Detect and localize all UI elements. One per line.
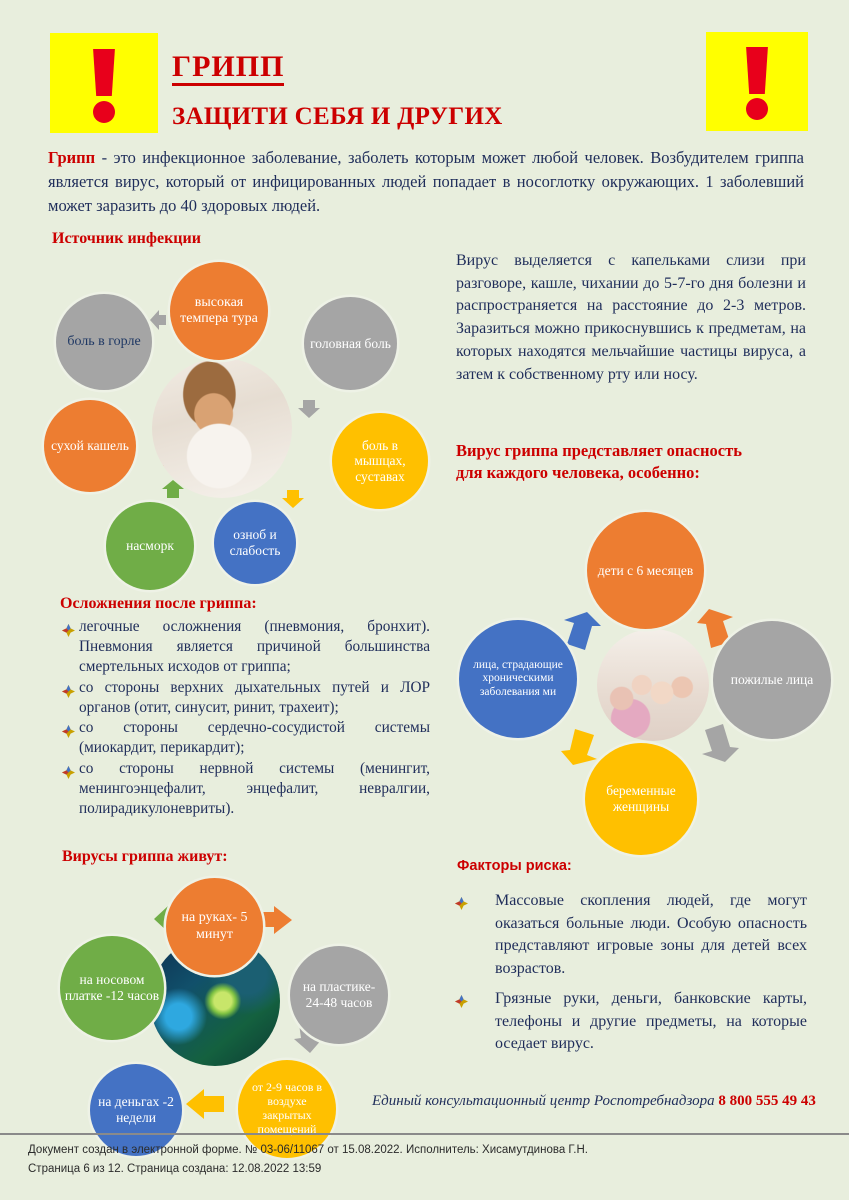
bullet-diamond-icon xyxy=(455,897,495,988)
arrow-icon-elderly-down xyxy=(695,720,741,764)
danger-heading: Вирус гриппа представляет опасность для … xyxy=(456,440,808,484)
header: ГРИПП ЗАЩИТИ СЕБЯ И ДРУГИХ xyxy=(0,0,849,150)
infographic-page: ГРИПП ЗАЩИТИ СЕБЯ И ДРУГИХ Грипп - это и… xyxy=(0,0,849,1200)
virus-bubble-hands: на руках- 5 минут xyxy=(166,878,263,975)
consultation-phone: 8 800 555 49 43 xyxy=(718,1093,816,1109)
list-item: Грязные руки, деньги, банковские карты, … xyxy=(455,988,807,1056)
symptom-label: головная боль xyxy=(306,336,395,352)
bullet-diamond-icon xyxy=(62,624,79,684)
exclamation-bar xyxy=(91,49,117,96)
warning-exclamation-icon-right xyxy=(706,32,808,131)
symptom-bubble-headache: головная боль xyxy=(304,297,397,390)
risk-label: дети с 6 месяцев xyxy=(594,563,698,579)
symptom-bubble-dry-cough: сухой кашель xyxy=(44,400,136,492)
transmission-paragraph: Вирус выделяется с капельками слизи при … xyxy=(456,250,806,386)
virus-lifespan-diagram: на руках- 5 минут на пластике- 24-48 час… xyxy=(52,866,442,1166)
symptom-label: насморк xyxy=(122,538,178,554)
page-title: ГРИПП xyxy=(172,52,284,86)
symptoms-diagram: высокая темпера тура головная боль боль … xyxy=(48,250,448,585)
risk-groups-diagram: дети с 6 месяцев пожилые лица беременные… xyxy=(455,495,840,845)
complications-heading: Осложнения после гриппа: xyxy=(60,595,257,613)
list-item-text: легочные осложнения (пневмония, бронхит)… xyxy=(79,617,430,677)
footer: Документ создан в электронной форме. № 0… xyxy=(28,1141,828,1178)
risk-label: беременные женщины xyxy=(585,783,697,814)
risk-bubble-pregnant: беременные женщины xyxy=(585,743,697,855)
bullet-diamond-icon xyxy=(62,766,79,826)
virus-label: на руках- 5 минут xyxy=(166,910,263,942)
list-item: со стороны верхних дыхательных путей и Л… xyxy=(62,678,430,718)
list-item: со стороны нервной системы (менингит, ме… xyxy=(62,759,430,819)
list-item-text: со стороны нервной системы (менингит, ме… xyxy=(79,759,430,819)
symptom-bubble-fever: высокая темпера тура xyxy=(170,262,268,360)
virus-label: на пластике- 24-48 часов xyxy=(290,979,388,1010)
risk-factors-heading: Факторы риска: xyxy=(457,858,572,874)
warning-exclamation-icon-left xyxy=(50,33,158,133)
risk-label: лица, страдающие хроническими заболевани… xyxy=(459,659,577,699)
virus-bubble-plastic: на пластике- 24-48 часов xyxy=(290,946,388,1044)
list-item-text: со стороны верхних дыхательных путей и Л… xyxy=(79,678,430,718)
footer-line1: Документ создан в электронной форме. № 0… xyxy=(28,1141,828,1160)
symptom-bubble-muscle-pain: боль в мышцах, суставах xyxy=(332,413,428,509)
consultation-text: Единый консультационный центр Роспотребн… xyxy=(372,1093,715,1109)
symptom-bubble-runny-nose: насморк xyxy=(106,502,194,590)
virus-label: от 2-9 часов в воздухе закрытых помещени… xyxy=(238,1081,336,1137)
consultation-line: Единый консультационный центр Роспотребн… xyxy=(372,1093,816,1110)
footer-line2: Страница 6 из 12. Страница создана: 12.0… xyxy=(28,1160,828,1179)
exclamation-bar xyxy=(744,47,770,94)
symptom-bubble-chills: озноб и слабость xyxy=(214,502,296,584)
symptom-label: сухой кашель xyxy=(47,438,133,454)
virus-bubble-handkerchief: на носовом платке -12 часов xyxy=(60,936,164,1040)
symptom-label: боль в мышцах, суставах xyxy=(332,438,428,485)
bullet-diamond-icon xyxy=(455,995,495,1063)
risk-factors-list: Массовые скопления людей, где могут оказ… xyxy=(455,890,807,1063)
symptom-label: озноб и слабость xyxy=(214,527,296,558)
risk-bubble-elderly: пожилые лица xyxy=(713,621,831,739)
risk-bubble-children: дети с 6 месяцев xyxy=(587,512,704,629)
bullet-diamond-icon xyxy=(62,685,79,725)
arrow-icon-muscle-down xyxy=(280,488,306,510)
arrow-icon-head-down xyxy=(296,398,322,420)
virus-label: на деньгах -2 недели xyxy=(90,1094,182,1125)
intro-paragraph: Грипп - это инфекционное заболевание, за… xyxy=(48,146,804,217)
exclamation-dot xyxy=(746,98,768,120)
list-item: Массовые скопления людей, где могут оказ… xyxy=(455,890,807,981)
risk-label: пожилые лица xyxy=(727,672,818,688)
list-item-text: Массовые скопления людей, где могут оказ… xyxy=(495,890,807,981)
page-subtitle: ЗАЩИТИ СЕБЯ И ДРУГИХ xyxy=(172,104,503,129)
arrow-icon-hands-right xyxy=(258,904,296,936)
arrow-icon-money-left xyxy=(184,1087,226,1121)
list-item-text: Грязные руки, деньги, банковские карты, … xyxy=(495,988,807,1056)
list-item-text: со стороны сердечно-сосудистой системы (… xyxy=(79,718,430,758)
bullet-diamond-icon xyxy=(62,725,79,765)
symptom-label: боль в горле xyxy=(63,334,144,350)
danger-heading-line1: Вирус гриппа представляет опасность xyxy=(456,440,808,462)
intro-lead: Грипп xyxy=(48,148,95,167)
virus-label: на носовом платке -12 часов xyxy=(60,972,164,1003)
list-item: легочные осложнения (пневмония, бронхит)… xyxy=(62,617,430,677)
complications-list: легочные осложнения (пневмония, бронхит)… xyxy=(62,617,430,820)
symptom-bubble-sore-throat: боль в горле xyxy=(56,294,152,390)
footer-divider xyxy=(0,1133,849,1135)
symptom-label: высокая темпера тура xyxy=(170,295,268,327)
list-item: со стороны сердечно-сосудистой системы (… xyxy=(62,718,430,758)
family-photo xyxy=(597,629,709,741)
sick-woman-photo xyxy=(152,358,292,498)
intro-text: - это инфекционное заболевание, заболеть… xyxy=(48,148,804,215)
danger-heading-line2: для каждого человека, особенно: xyxy=(456,462,808,484)
risk-bubble-chronic: лица, страдающие хроническими заболевани… xyxy=(459,620,577,738)
source-section-heading: Источник инфекции xyxy=(52,230,201,248)
virus-life-heading: Вирусы гриппа живут: xyxy=(62,848,228,866)
exclamation-dot xyxy=(93,101,115,123)
